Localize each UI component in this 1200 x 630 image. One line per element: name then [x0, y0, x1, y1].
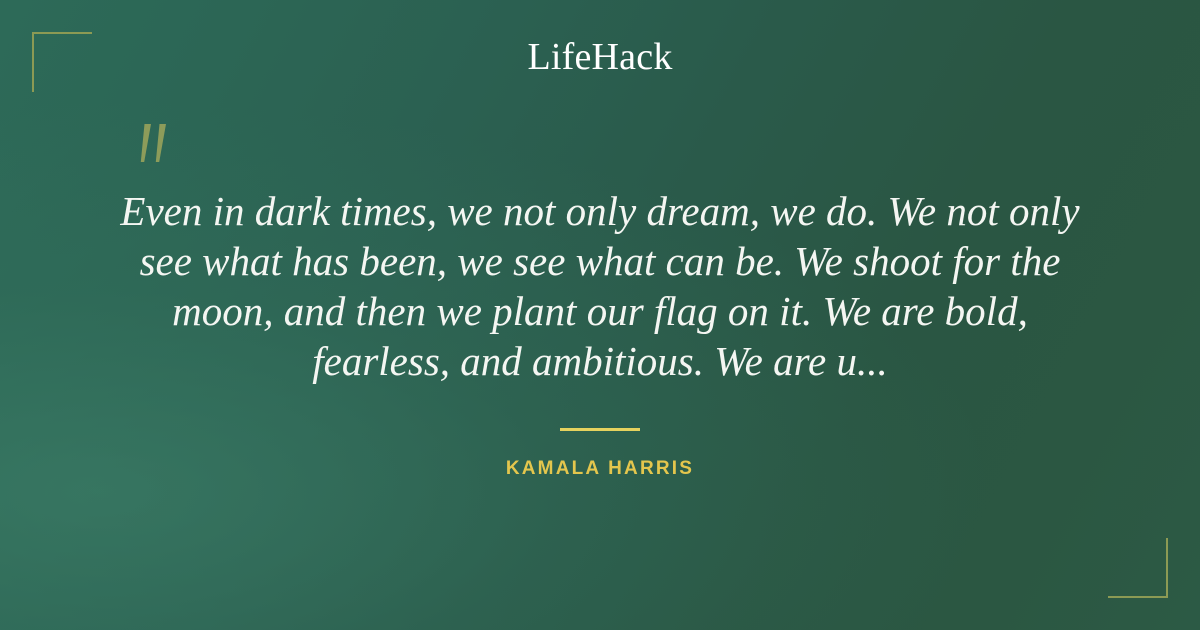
quote-line: see what has been, we see what can be. W…	[90, 236, 1110, 286]
quote-line: moon, and then we plant our flag on it. …	[90, 286, 1110, 336]
quote-card: LifeHack Even in dark times, we not only…	[0, 0, 1200, 630]
quote-author: KAMALA HARRIS	[506, 459, 694, 478]
quote-line: Even in dark times, we not only dream, w…	[90, 186, 1110, 236]
quote-text: Even in dark times, we not only dream, w…	[90, 186, 1110, 386]
corner-bracket-icon-bottom-right	[1108, 538, 1168, 598]
double-prime-quote-icon	[131, 122, 175, 170]
brand-logo: LifeHack	[0, 38, 1200, 76]
attribution-divider	[560, 428, 640, 431]
brand-name: LifeHack	[527, 38, 672, 76]
quote-line: fearless, and ambitious. We are u...	[90, 336, 1110, 386]
attribution: KAMALA HARRIS	[0, 428, 1200, 479]
